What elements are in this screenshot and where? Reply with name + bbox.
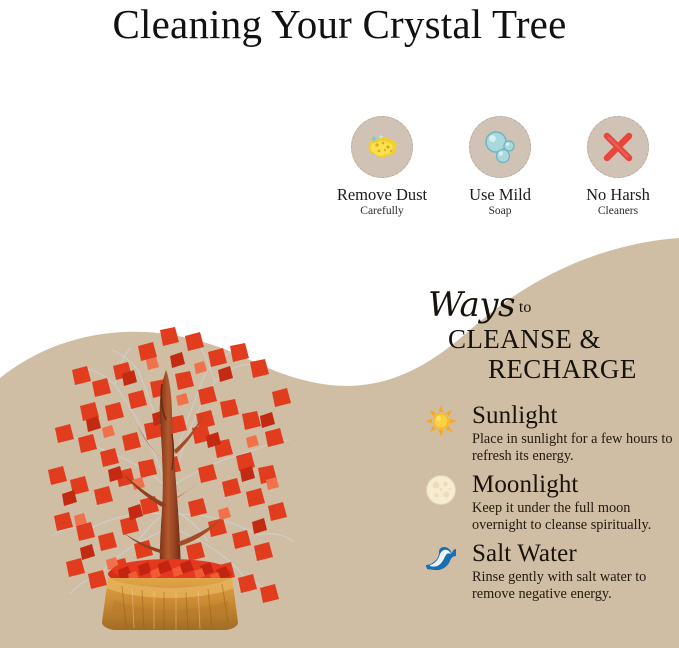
method-description: Place in sunlight for a few hours to ref… bbox=[472, 431, 674, 464]
crystal-tree-artwork bbox=[10, 170, 340, 630]
method-title: Moonlight bbox=[472, 471, 674, 498]
bubbles-icon bbox=[482, 130, 518, 164]
method-item-moonlight: Moonlight Keep it under the full moon ov… bbox=[424, 471, 674, 540]
care-badges-row: Remove Dust Carefully Use Mild Soap bbox=[330, 116, 670, 218]
care-badge-remove-dust: Remove Dust Carefully bbox=[330, 116, 434, 218]
moon-icon bbox=[425, 474, 457, 506]
care-badge-circle bbox=[587, 116, 649, 178]
care-badge-use-mild-soap: Use Mild Soap bbox=[448, 116, 552, 218]
infographic-canvas: Cleaning Your Crystal Tree Remove Dust bbox=[0, 0, 679, 648]
cross-icon bbox=[601, 130, 635, 164]
sponge-icon bbox=[364, 132, 400, 162]
cleanse-methods-list: Sunlight Place in sunlight for a few hou… bbox=[424, 402, 674, 609]
method-title: Sunlight bbox=[472, 402, 674, 429]
care-badge-no-harsh-cleaners: No Harsh Cleaners bbox=[566, 116, 670, 218]
ways-heading: Waysto CLEANSE & RECHARGE bbox=[428, 288, 673, 384]
care-badge-subtitle: Cleaners bbox=[566, 205, 670, 218]
method-description: Keep it under the full moon overnight to… bbox=[472, 500, 674, 533]
sun-icon bbox=[425, 405, 457, 437]
ways-script-word: Ways bbox=[428, 285, 515, 325]
care-badge-title: No Harsh bbox=[566, 186, 670, 204]
ways-heading-line-1: Waysto bbox=[428, 288, 673, 324]
care-badge-title: Remove Dust bbox=[330, 186, 434, 204]
care-badge-title: Use Mild bbox=[448, 186, 552, 204]
care-badge-circle bbox=[351, 116, 413, 178]
method-icon-wrap bbox=[424, 473, 458, 507]
care-badge-circle bbox=[469, 116, 531, 178]
care-badge-subtitle: Carefully bbox=[330, 205, 434, 218]
method-item-sunlight: Sunlight Place in sunlight for a few hou… bbox=[424, 402, 674, 471]
stone-base bbox=[102, 578, 238, 630]
ways-small-word: to bbox=[519, 299, 531, 316]
wave-icon bbox=[425, 544, 457, 574]
method-icon-wrap bbox=[424, 404, 458, 438]
page-title: Cleaning Your Crystal Tree bbox=[0, 2, 679, 46]
ways-heading-line-2: CLEANSE & bbox=[428, 324, 673, 354]
method-title: Salt Water bbox=[472, 540, 674, 567]
ways-heading-line-3: RECHARGE bbox=[428, 354, 673, 384]
method-item-salt-water: Salt Water Rinse gently with salt water … bbox=[424, 540, 674, 609]
method-icon-wrap bbox=[424, 542, 458, 576]
method-description: Rinse gently with salt water to remove n… bbox=[472, 569, 674, 602]
care-badge-subtitle: Soap bbox=[448, 205, 552, 218]
